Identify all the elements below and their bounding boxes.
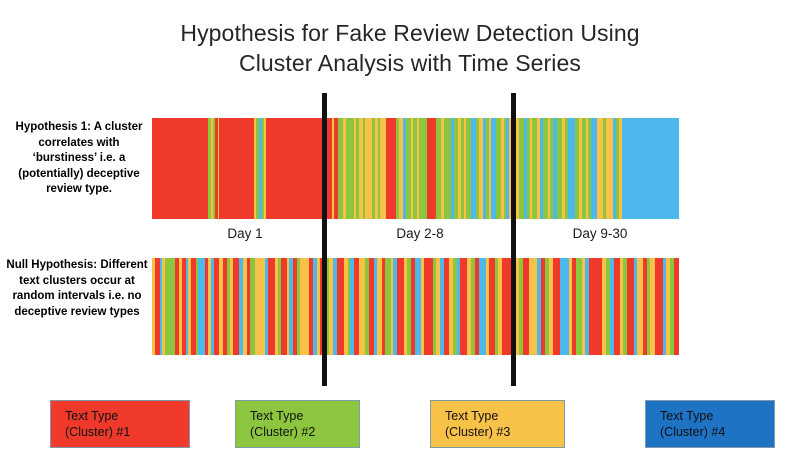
stripe-red <box>268 258 275 355</box>
legend-item-cluster-3: Text Type (Cluster) #3 <box>430 400 565 448</box>
stripe-red <box>553 258 560 355</box>
stripe-red <box>655 258 663 355</box>
legend-item-cluster-1: Text Type (Cluster) #1 <box>50 400 190 448</box>
legend-item-cluster-1-line-2: (Cluster) #1 <box>65 424 189 440</box>
stripe-red <box>397 258 404 355</box>
legend-item-cluster-4-line-1: Text Type <box>660 408 774 424</box>
stripe-red <box>386 118 396 219</box>
slide-canvas: Hypothesis for Fake Review Detection Usi… <box>0 0 808 465</box>
stripe-red <box>219 118 255 219</box>
page-title-line-2: Cluster Analysis with Time Series <box>140 48 680 78</box>
stripe-orange <box>365 118 372 219</box>
stripe-orange <box>300 258 309 355</box>
axis-label-day-2-8: Day 2-8 <box>350 226 490 241</box>
stripe-red <box>233 258 240 355</box>
stripe-orange <box>606 118 613 219</box>
null-hypothesis-stripe-bar <box>152 258 680 355</box>
page-title-line-1: Hypothesis for Fake Review Detection Usi… <box>140 18 680 48</box>
stripe-red <box>427 118 436 219</box>
stripe-green <box>165 258 175 355</box>
stripe-red <box>152 118 208 219</box>
stripe-red <box>424 258 433 355</box>
legend-item-cluster-2-line-1: Text Type <box>250 408 359 424</box>
hypothesis-1-stripe-bar <box>152 118 680 219</box>
stripe-green <box>346 118 353 219</box>
axis-label-day-1: Day 1 <box>180 226 310 241</box>
null-hypothesis-label: Null Hypothesis: Different text clusters… <box>2 258 152 320</box>
axis-label-day-9-30: Day 9-30 <box>530 226 670 241</box>
legend-item-cluster-3-line-1: Text Type <box>445 408 564 424</box>
hypothesis-1-label: Hypothesis 1: A cluster correlates with … <box>8 120 150 198</box>
time-divider-day8-day9 <box>511 93 516 386</box>
legend-item-cluster-3-line-2: (Cluster) #3 <box>445 424 564 440</box>
legend-item-cluster-2: Text Type (Cluster) #2 <box>235 400 360 448</box>
legend-item-cluster-4-line-2: (Cluster) #4 <box>660 424 774 440</box>
legend-item-cluster-2-line-2: (Cluster) #2 <box>250 424 359 440</box>
stripe-red <box>460 258 467 355</box>
stripe-orange <box>359 258 366 355</box>
legend-item-cluster-4: Text Type (Cluster) #4 <box>645 400 775 448</box>
stripe-blue <box>479 258 486 355</box>
stripe-blue <box>560 258 569 355</box>
stripe-red <box>337 258 345 355</box>
stripe-green <box>419 118 426 219</box>
stripe-blue <box>622 118 680 219</box>
stripe-orange <box>255 258 265 355</box>
stripe-red <box>589 258 602 355</box>
stripe-blue <box>198 258 205 355</box>
stripe-orange <box>529 258 537 355</box>
time-divider-day1-day2 <box>322 93 327 386</box>
stripe-red <box>674 258 680 355</box>
page-title: Hypothesis for Fake Review Detection Usi… <box>140 18 680 78</box>
legend-item-cluster-1-line-1: Text Type <box>65 408 189 424</box>
stripe-red <box>627 258 634 355</box>
